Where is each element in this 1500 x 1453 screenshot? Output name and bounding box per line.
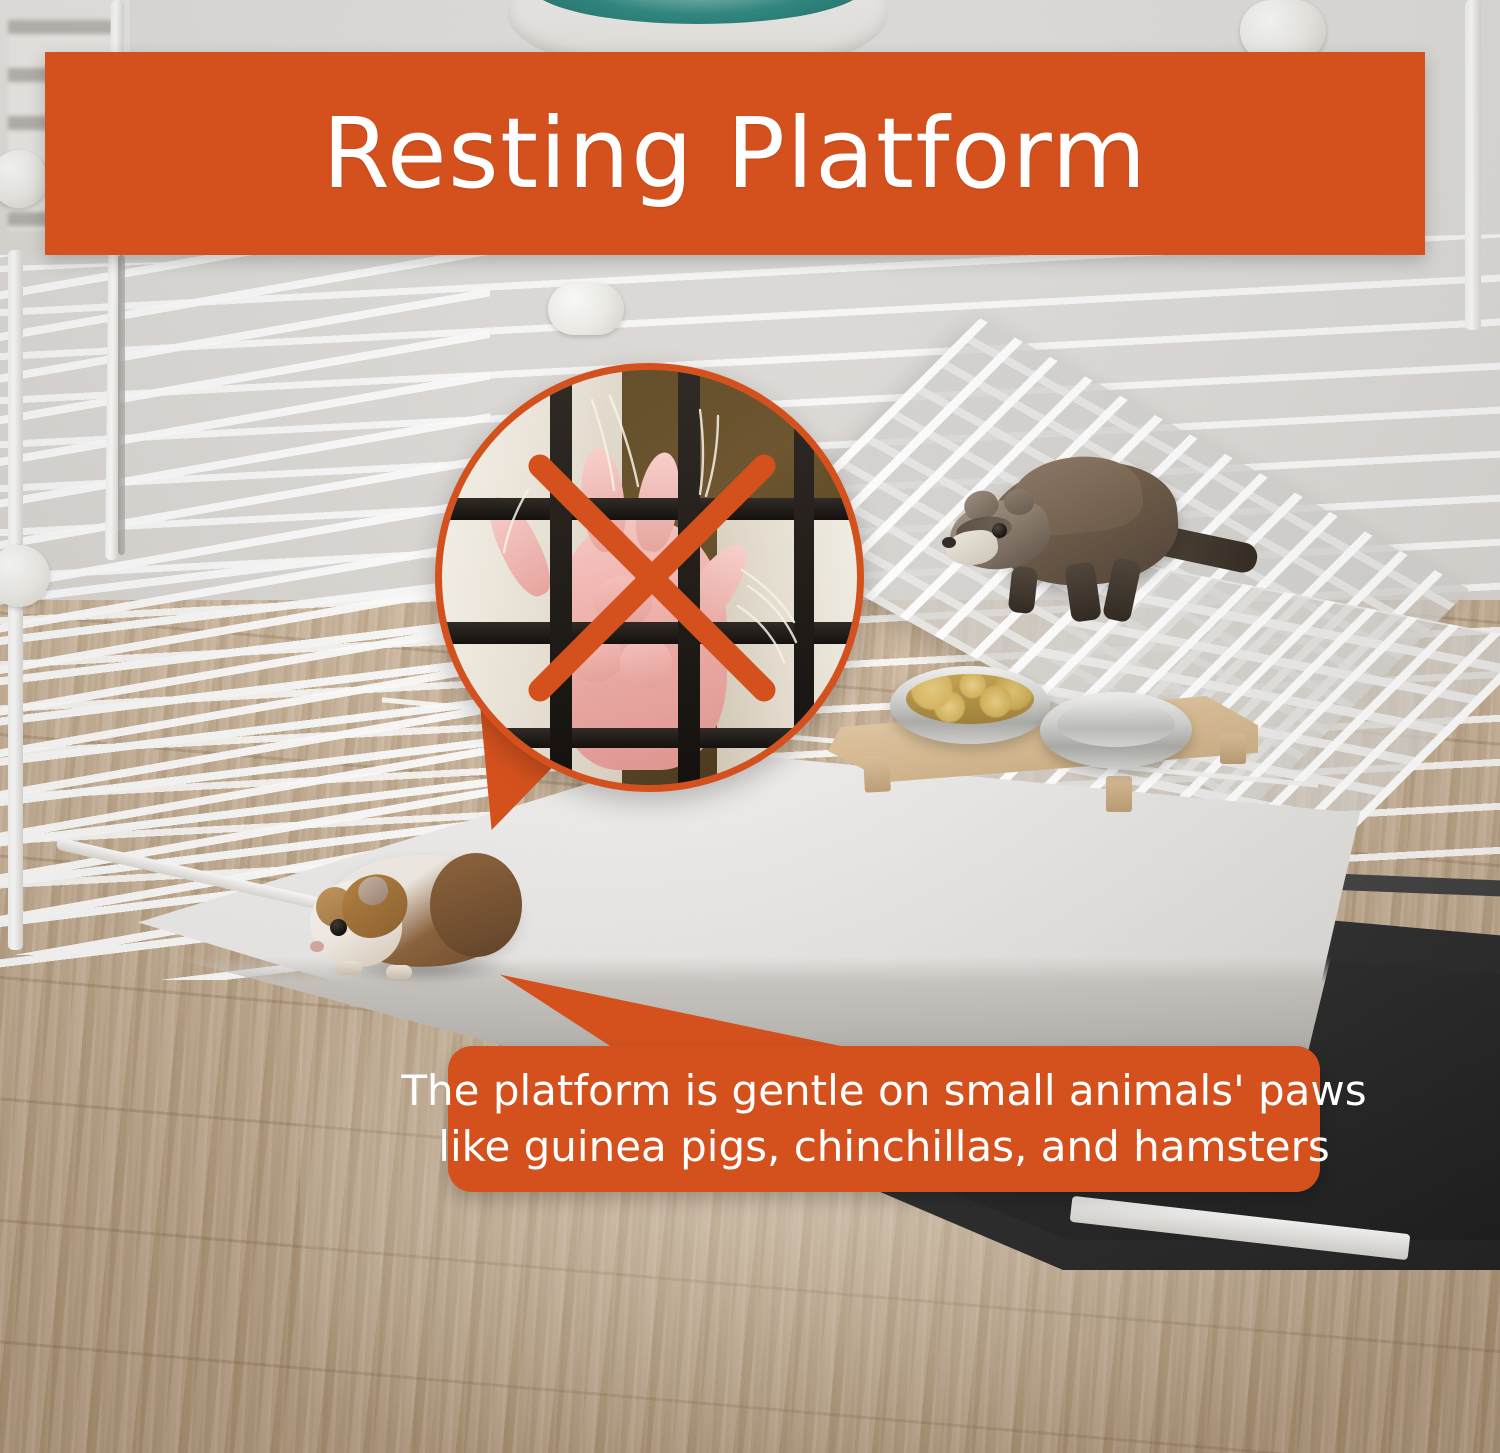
wire-floor-warning-callout	[435, 363, 864, 792]
guinea-pig-foot	[336, 961, 362, 975]
guinea-pig-nose	[310, 941, 324, 952]
feature-caption: The platform is gentle on small animals'…	[448, 1046, 1320, 1192]
caption-line-2: like guinea pigs, chinchillas, and hamst…	[438, 1119, 1329, 1175]
product-feature-image: Resting Platform The platform is gentle …	[0, 0, 1500, 1453]
page-title: Resting Platform	[322, 97, 1147, 210]
paw-whiskers-and-cross	[442, 370, 857, 785]
feeder-leg	[1220, 734, 1246, 764]
guinea-pig	[290, 845, 540, 1005]
water-bowl	[1040, 692, 1192, 768]
ferret-ear	[1004, 489, 1034, 515]
feeder-leg	[1106, 776, 1132, 812]
guinea-pig-rump	[430, 853, 522, 957]
cage-connector-knob	[548, 283, 624, 335]
feeder-leg	[863, 755, 891, 792]
ferret-eye	[992, 523, 1007, 538]
ferret-leg	[1008, 566, 1039, 614]
title-banner: Resting Platform	[45, 52, 1425, 255]
ferret-nose	[942, 537, 956, 548]
guinea-pig-foot	[386, 965, 412, 979]
caption-line-1: The platform is gentle on small animals'…	[401, 1063, 1366, 1119]
cage-post-shadow	[118, 255, 125, 555]
guinea-pig-eye	[330, 919, 347, 936]
cage-post-right	[1465, 0, 1481, 330]
ferret	[900, 455, 1240, 685]
